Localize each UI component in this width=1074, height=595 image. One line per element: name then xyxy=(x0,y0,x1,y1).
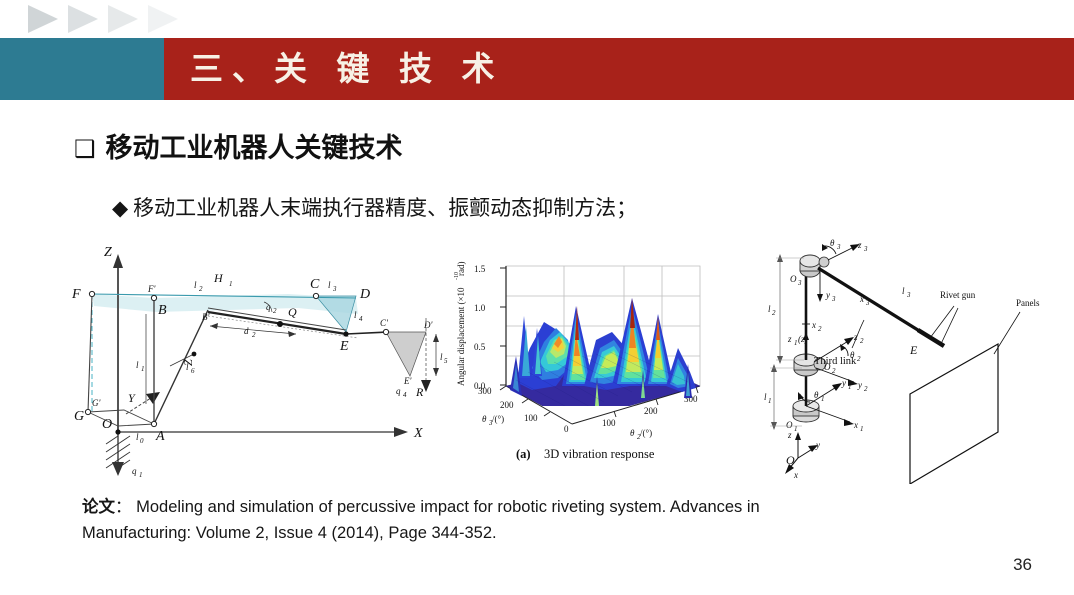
svg-text:Rivet gun: Rivet gun xyxy=(940,290,976,300)
svg-text:2: 2 xyxy=(818,325,822,333)
heading-level1: ❑移动工业机器人关键技术 xyxy=(74,126,403,165)
svg-text:z: z xyxy=(787,334,792,344)
svg-text:l: l xyxy=(328,280,331,290)
page-number: 36 xyxy=(1013,555,1032,575)
citation-line1: Modeling and simulation of percussive im… xyxy=(136,498,760,516)
svg-text:Angular displacement (×10: Angular displacement (×10 xyxy=(456,287,466,386)
svg-text:0.5: 0.5 xyxy=(474,342,486,352)
svg-text:E': E' xyxy=(403,376,412,386)
figure-three-link-robot: Panels z y x O O1 y1 xyxy=(758,236,1074,484)
svg-text:2: 2 xyxy=(857,355,861,363)
svg-text:x: x xyxy=(859,294,864,304)
svg-text:3: 3 xyxy=(865,299,870,307)
play-arrow-icon xyxy=(148,5,178,33)
svg-text:2: 2 xyxy=(252,331,256,339)
svg-text:2: 2 xyxy=(199,285,203,293)
svg-text:O: O xyxy=(790,274,797,284)
svg-text:θ: θ xyxy=(482,414,487,424)
citation-block: 论文： Modeling and simulation of percussiv… xyxy=(82,494,1034,546)
svg-text:/(°): /(°) xyxy=(492,414,504,424)
play-arrow-icon xyxy=(108,5,138,33)
header-teal-block xyxy=(0,38,164,100)
arrow-decoration-strip xyxy=(0,0,1074,38)
svg-text:q: q xyxy=(266,302,271,312)
svg-text:O: O xyxy=(786,420,793,430)
svg-text:R: R xyxy=(415,385,424,399)
svg-text:1.0: 1.0 xyxy=(474,303,486,313)
figure-kinematic-linkage: Z X Y xyxy=(58,236,448,484)
svg-text:q: q xyxy=(396,386,401,396)
svg-text:3: 3 xyxy=(836,243,841,251)
svg-text:z: z xyxy=(787,430,792,440)
svg-text:z: z xyxy=(857,240,862,250)
svg-text:H: H xyxy=(213,271,224,285)
citation-line2: Manufacturing: Volume 2, Issue 4 (2014),… xyxy=(82,520,1034,546)
svg-text:2: 2 xyxy=(273,307,277,315)
svg-text:2: 2 xyxy=(864,385,868,393)
svg-text:3: 3 xyxy=(332,285,337,293)
svg-text:l: l xyxy=(902,286,905,296)
svg-text:Z: Z xyxy=(181,359,195,366)
svg-text:1: 1 xyxy=(768,397,772,405)
svg-text:2: 2 xyxy=(772,309,776,317)
svg-text:x: x xyxy=(853,420,858,430)
svg-text:1: 1 xyxy=(141,365,145,373)
play-arrow-icon xyxy=(28,5,58,33)
square-bullet-icon: ❑ xyxy=(74,135,96,163)
svg-text:O: O xyxy=(786,453,795,467)
svg-text:G: G xyxy=(74,409,84,424)
svg-text:l: l xyxy=(194,280,197,290)
svg-text:l: l xyxy=(136,432,139,442)
heading-level2-text: 移动工业机器人末端执行器精度、振颤动态抑制方法； xyxy=(133,196,637,220)
heading-level2: ◆移动工业机器人末端执行器精度、振颤动态抑制方法； xyxy=(112,192,637,222)
svg-text:0: 0 xyxy=(564,424,569,434)
svg-text:200: 200 xyxy=(644,406,658,416)
svg-text:θ: θ xyxy=(830,238,835,248)
svg-text:Q: Q xyxy=(288,305,297,319)
citation-label: 论文 xyxy=(82,497,115,516)
svg-text:C': C' xyxy=(380,318,389,328)
svg-text:F': F' xyxy=(147,284,156,294)
svg-text:y: y xyxy=(815,440,820,450)
svg-text:θ: θ xyxy=(814,390,819,400)
svg-text:/(°): /(°) xyxy=(640,428,652,438)
svg-text:E: E xyxy=(339,339,349,354)
svg-text:1: 1 xyxy=(794,339,798,347)
play-arrow-icon xyxy=(68,5,98,33)
svg-text:A: A xyxy=(155,429,165,444)
svg-text:x: x xyxy=(811,320,816,330)
svg-text:1: 1 xyxy=(821,395,825,403)
svg-text:E: E xyxy=(909,343,918,357)
svg-text:1.5: 1.5 xyxy=(474,264,486,274)
svg-text:B': B' xyxy=(202,312,210,322)
svg-text:l: l xyxy=(768,304,771,314)
svg-text:2: 2 xyxy=(860,337,864,345)
heading-level1-text: 移动工业机器人关键技术 xyxy=(106,133,403,164)
svg-text:3: 3 xyxy=(797,279,802,287)
svg-text:4: 4 xyxy=(403,391,407,399)
svg-text:Third link: Third link xyxy=(814,356,857,367)
figure-row: Z X Y xyxy=(58,236,1068,486)
svg-text:(a): (a) xyxy=(516,447,531,461)
svg-text:x: x xyxy=(793,470,798,480)
diamond-bullet-icon: ◆ xyxy=(112,196,128,220)
svg-text:l: l xyxy=(764,392,767,402)
slide-root: 三、关 键 技 术 ❑移动工业机器人关键技术 ◆移动工业机器人末端执行器精度、振… xyxy=(0,0,1074,595)
svg-text:0: 0 xyxy=(140,437,144,445)
svg-text:200: 200 xyxy=(500,400,514,410)
svg-text:rad): rad) xyxy=(456,262,466,277)
figure-3d-vibration-response: 1.5 1.0 0.5 0.0 Angular displacement (×1… xyxy=(444,236,744,474)
svg-text:d: d xyxy=(244,326,249,336)
svg-text:B: B xyxy=(158,303,167,318)
svg-text:1: 1 xyxy=(229,280,233,288)
svg-text:100: 100 xyxy=(602,418,616,428)
svg-text:C: C xyxy=(310,277,320,292)
svg-text:y: y xyxy=(857,380,862,390)
svg-text:3: 3 xyxy=(906,291,911,299)
svg-text:D: D xyxy=(359,287,370,302)
svg-text:300: 300 xyxy=(478,386,492,396)
svg-text:Panels: Panels xyxy=(1016,298,1040,308)
svg-text:y: y xyxy=(825,290,830,300)
svg-text:1: 1 xyxy=(860,425,864,433)
svg-text:θ: θ xyxy=(630,428,635,438)
svg-text:Y: Y xyxy=(128,391,136,405)
svg-text:l: l xyxy=(440,352,443,362)
svg-text:100: 100 xyxy=(524,413,538,423)
svg-text:y: y xyxy=(841,378,846,388)
svg-text:4: 4 xyxy=(359,315,363,323)
svg-text:D': D' xyxy=(423,320,433,330)
svg-text:q: q xyxy=(132,466,137,476)
svg-text:3: 3 xyxy=(863,245,868,253)
svg-text:3: 3 xyxy=(831,295,836,303)
section-title: 三、关 键 技 术 xyxy=(190,38,690,100)
svg-text:3D vibration response: 3D vibration response xyxy=(544,447,655,461)
svg-text:F: F xyxy=(71,287,81,302)
svg-text:l: l xyxy=(136,360,139,370)
svg-text:X: X xyxy=(413,426,423,441)
svg-text:G': G' xyxy=(92,398,101,408)
svg-text:Z: Z xyxy=(104,245,112,260)
svg-text:1: 1 xyxy=(139,471,143,479)
citation-separator: ： xyxy=(115,498,132,516)
svg-text:O: O xyxy=(102,417,112,432)
svg-text:6: 6 xyxy=(191,367,195,375)
